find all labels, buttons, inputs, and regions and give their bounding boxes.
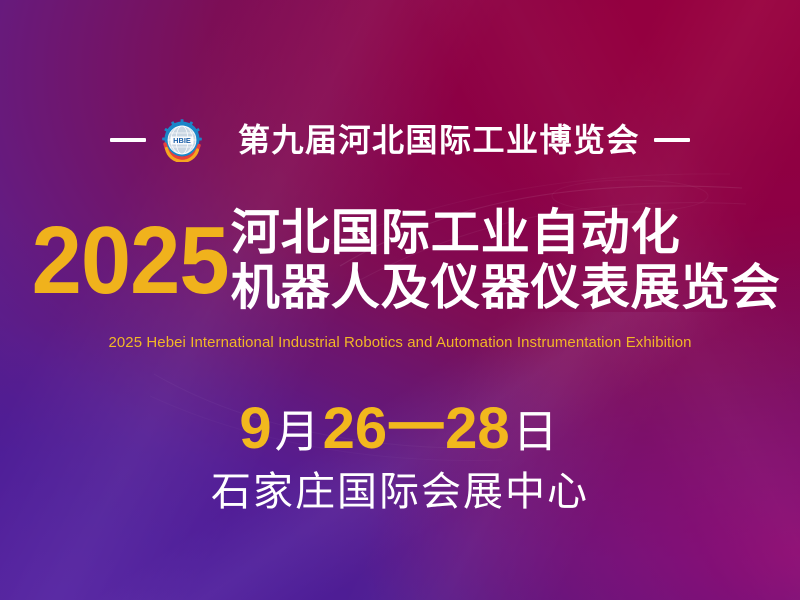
venue-name: 石家庄国际会展中心 [0, 470, 800, 514]
date-month-label: 月 [272, 409, 323, 454]
date-range-separator: 一 [387, 400, 445, 458]
headline-year: 2025 [32, 215, 229, 307]
headline-line-1: 河北国际工业自动化 [231, 206, 781, 261]
header-title: 第九届河北国际工业博览会 [238, 124, 640, 156]
date-day-start: 26 [323, 400, 388, 458]
headline-line-2: 机器人及仪器仪表展览会 [231, 261, 781, 316]
poster-content: HBIE 第九届河北国际工业博览会 2025 河北国际工业自动化 机器人及仪器仪… [0, 0, 800, 600]
date-day-label: 日 [510, 409, 561, 454]
hbie-logo: HBIE [160, 118, 204, 162]
english-subtitle: 2025 Hebei International Industrial Robo… [6, 334, 794, 351]
headline-chinese-lines: 河北国际工业自动化 机器人及仪器仪表展览会 [231, 206, 781, 317]
left-dash-decoration [110, 138, 146, 142]
header-band: HBIE 第九届河北国际工业博览会 [0, 112, 800, 168]
right-dash-decoration [654, 138, 690, 142]
event-date-row: 9 月 26 一 28 日 [0, 398, 800, 460]
exhibition-poster: HBIE 第九届河北国际工业博览会 2025 河北国际工业自动化 机器人及仪器仪… [0, 0, 800, 600]
date-month-number: 9 [239, 400, 271, 458]
headline-block: 2025 河北国际工业自动化 机器人及仪器仪表展览会 [0, 196, 800, 326]
hbie-logo-icon: HBIE [160, 118, 204, 162]
hbie-logo-label: HBIE [173, 136, 191, 145]
date-day-end: 28 [445, 400, 510, 458]
